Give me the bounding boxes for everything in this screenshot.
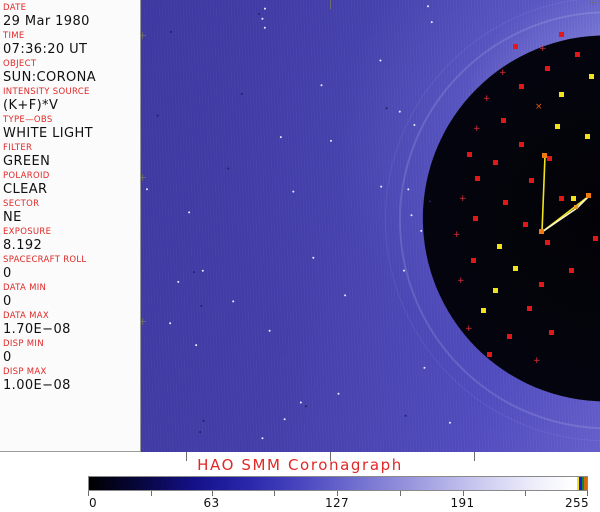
disk-marker [569,268,574,273]
metadata-field: DISP MIN0 [3,339,140,365]
image-speckle [379,59,381,61]
disk-marker [549,330,554,335]
colorbar-tick [151,491,152,496]
disk-marker [513,266,518,271]
disk-marker [559,196,564,201]
metadata-value: 07:36:20 UT [3,42,140,57]
disk-marker: + [473,126,480,133]
image-speckle [386,107,388,109]
colorbar-tick [525,491,526,496]
image-speckle [338,393,340,395]
disk-marker [545,240,550,245]
metadata-label: SECTOR [3,199,140,210]
metadata-field: FILTERGREEN [3,143,140,169]
metadata-value: 29 Mar 1980 [3,14,140,29]
disk-marker [571,196,576,201]
colorbar-tick-label: 255 [565,496,589,510]
coronagraph-viewer: DATE29 Mar 1980TIME07:36:20 UTOBJECTSUN:… [0,0,600,512]
disk-marker [493,160,498,165]
colorbar-gradient [89,477,573,490]
colorbar-tick [400,491,401,496]
disk-marker: + [459,196,466,203]
disk-marker: + [483,96,490,103]
disk-marker: + [539,46,546,53]
page-title: HAO SMM Coronagraph [197,456,403,474]
disk-marker [547,156,552,161]
disk-marker [589,74,594,79]
metadata-label: TYPE—OBS [3,115,140,126]
disk-marker [507,334,512,339]
disk-marker [539,282,544,287]
metadata-label: DATE [3,3,140,14]
disk-marker [545,66,550,71]
image-speckle [420,230,422,232]
image-speckle [330,139,332,141]
metadata-value: 1.00E−08 [3,378,140,393]
colorbar[interactable] [88,476,588,491]
metadata-field: DATA MAX1.70E−08 [3,311,140,337]
metadata-label: DISP MAX [3,367,140,378]
disk-marker [503,200,508,205]
metadata-field: DISP MAX1.00E−08 [3,367,140,393]
image-speckle [262,437,264,439]
metadata-field: SPACECRAFT ROLL0 [3,255,140,281]
image-speckle [268,329,270,331]
image-speckle [427,5,429,7]
image-speckle [156,114,158,116]
image-speckle [202,270,204,272]
disk-marker: × [535,104,542,111]
disk-marker [527,306,532,311]
metadata-value: WHITE LIGHT [3,126,140,141]
image-speckle [199,431,201,433]
metadata-field: EXPOSURE8.192 [3,227,140,253]
colorbar-tick-label: 63 [203,496,219,510]
metadata-field-list: DATE29 Mar 1980TIME07:36:20 UTOBJECTSUN:… [3,3,140,393]
disk-marker: + [457,278,464,285]
axis-tick-left-lower: + [141,316,147,327]
colorbar-widget[interactable]: 063127191255 [88,476,588,511]
metadata-field: SECTORNE [3,199,140,225]
disk-marker [497,244,502,249]
disk-marker [559,32,564,37]
metadata-label: DATA MIN [3,283,140,294]
image-speckle [232,300,234,302]
metadata-label: SPACECRAFT ROLL [3,255,140,266]
metadata-value: 0 [3,294,140,309]
colorbar-end-stripe [584,477,587,490]
colorbar-tick-label: 127 [325,496,349,510]
disk-marker [555,124,560,129]
metadata-value: CLEAR [3,182,140,197]
colorbar-tick-label: 191 [450,496,474,510]
axis-tick-top-1 [330,0,331,9]
metadata-label: TIME [3,31,140,42]
image-speckle [195,344,197,346]
metadata-value: GREEN [3,154,140,169]
disk-marker [523,222,528,227]
image-speckle [200,305,202,307]
disk-marker [475,176,480,181]
metadata-field: POLAROIDCLEAR [3,171,140,197]
metadata-field: INTENSITY SOURCE(K+F)*V [3,87,140,113]
metadata-value: 8.192 [3,238,140,253]
disk-marker [493,288,498,293]
image-speckle [413,124,415,126]
disk-marker [471,258,476,263]
metadata-field: TIME07:36:20 UT [3,31,140,57]
disk-marker [519,142,524,147]
metadata-field: DATA MIN0 [3,283,140,309]
disk-marker [519,84,524,89]
disk-marker [501,118,506,123]
image-speckle [380,185,382,187]
axis-tick-left-upper: + [141,30,147,41]
coronagraph-image[interactable]: +++×++++++ + + + + [141,0,600,452]
image-speckle [202,420,204,422]
metadata-label: POLAROID [3,171,140,182]
colorbar-tick [274,491,275,496]
disk-marker [529,178,534,183]
disk-marker [593,236,598,241]
title-bar: HAO SMM Coronagraph [0,455,600,474]
metadata-field: TYPE—OBSWHITE LIGHT [3,115,140,141]
colorbar-tick-label: 0 [89,496,97,510]
image-speckle [261,17,263,19]
image-speckle [407,188,409,190]
disk-marker [513,44,518,49]
axis-tick-top-right: + [589,0,598,8]
metadata-panel: DATE29 Mar 1980TIME07:36:20 UTOBJECTSUN:… [0,0,141,452]
metadata-field: OBJECTSUN:CORONA [3,59,140,85]
disk-marker: + [465,326,472,333]
image-speckle [177,281,179,283]
metadata-value: 0 [3,266,140,281]
corona-frame [141,0,600,452]
disk-marker [575,52,580,57]
disk-marker: + [499,70,506,77]
metadata-label: EXPOSURE [3,227,140,238]
disk-marker [473,216,478,221]
metadata-label: DATA MAX [3,311,140,322]
axis-tick-left-middle: + [141,172,147,183]
metadata-value: (K+F)*V [3,98,140,113]
disk-marker: + [533,358,540,365]
metadata-label: DISP MIN [3,339,140,350]
metadata-value: 0 [3,350,140,365]
disk-marker [559,92,564,97]
metadata-value: NE [3,210,140,225]
metadata-value: SUN:CORONA [3,70,140,85]
metadata-label: OBJECT [3,59,140,70]
metadata-value: 1.70E−08 [3,322,140,337]
metadata-label: INTENSITY SOURCE [3,87,140,98]
disk-marker [487,352,492,357]
image-speckle [305,405,307,407]
image-speckle [258,13,260,15]
disk-marker [481,308,486,313]
metadata-field: DATE29 Mar 1980 [3,3,140,29]
colorbar-axis: 063127191255 [88,491,588,511]
disk-marker [585,134,590,139]
image-speckle [188,211,190,213]
disk-marker: + [453,232,460,239]
disk-marker [467,152,472,157]
image-speckle [312,257,314,259]
metadata-label: FILTER [3,143,140,154]
